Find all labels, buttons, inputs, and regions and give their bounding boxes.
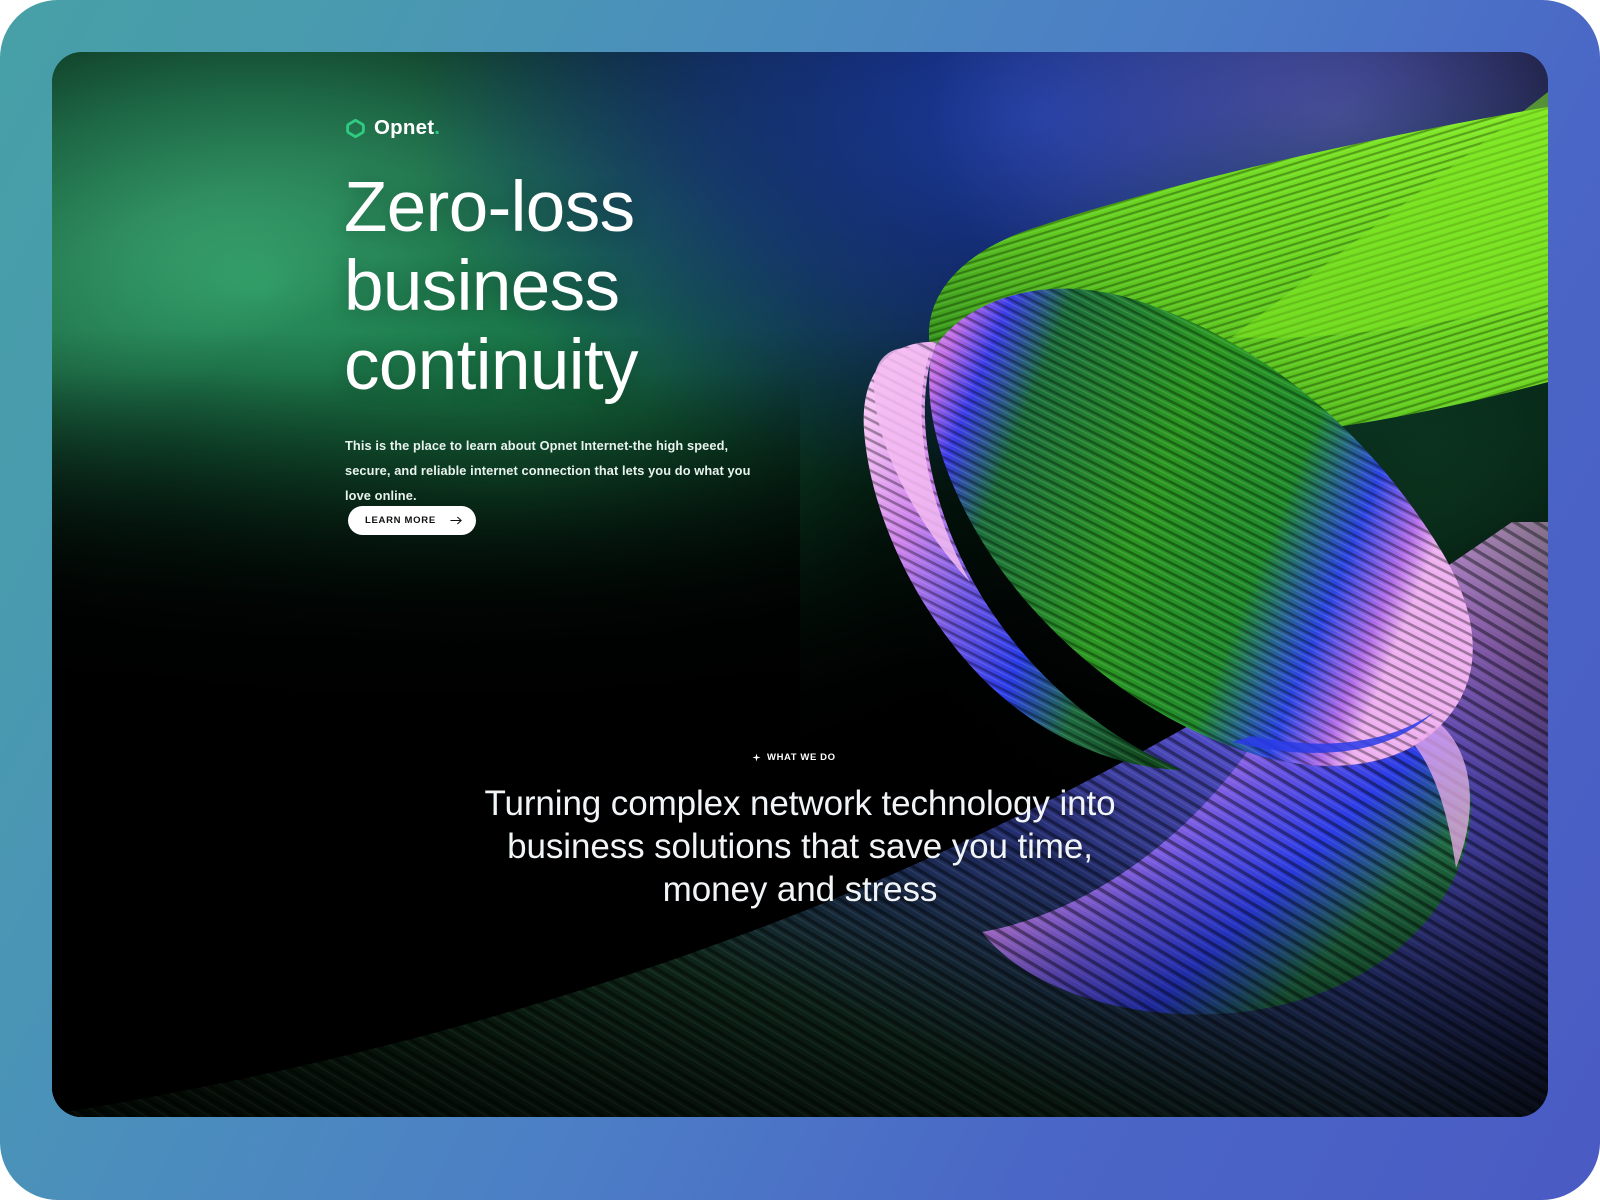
hexagon-ring-icon bbox=[346, 119, 365, 138]
hero-card: Opnet. Zero-loss business continuity Thi… bbox=[52, 52, 1548, 1117]
hero-description-line-2: and reliable internet connection that le… bbox=[345, 463, 751, 503]
page-title: Zero-loss business continuity bbox=[344, 168, 984, 405]
learn-more-button[interactable]: LEARN MORE bbox=[348, 506, 476, 535]
headline-line-1: Zero-loss bbox=[344, 168, 635, 247]
learn-more-label: LEARN MORE bbox=[365, 515, 436, 526]
statement-line-3: money and stress bbox=[320, 868, 1280, 911]
headline-line-3: continuity bbox=[344, 326, 638, 405]
hero-description: This is the place to learn about Opnet I… bbox=[345, 433, 755, 508]
statement-line-2: business solutions that save you time, bbox=[320, 825, 1280, 868]
sparkle-icon bbox=[752, 753, 761, 762]
headline-line-2: business bbox=[344, 247, 619, 326]
brand-logo[interactable]: Opnet. bbox=[346, 118, 440, 139]
section-statement: Turning complex network technology into … bbox=[320, 782, 1280, 911]
brand-name: Opnet. bbox=[374, 118, 440, 139]
section-eyebrow-label: WHAT WE DO bbox=[767, 752, 836, 763]
section-eyebrow: WHAT WE DO bbox=[752, 752, 836, 763]
brand-period: . bbox=[434, 116, 440, 139]
statement-line-1: Turning complex network technology into bbox=[320, 782, 1280, 825]
outer-gradient-frame: Opnet. Zero-loss business continuity Thi… bbox=[0, 0, 1600, 1200]
arrow-right-icon bbox=[450, 515, 463, 526]
